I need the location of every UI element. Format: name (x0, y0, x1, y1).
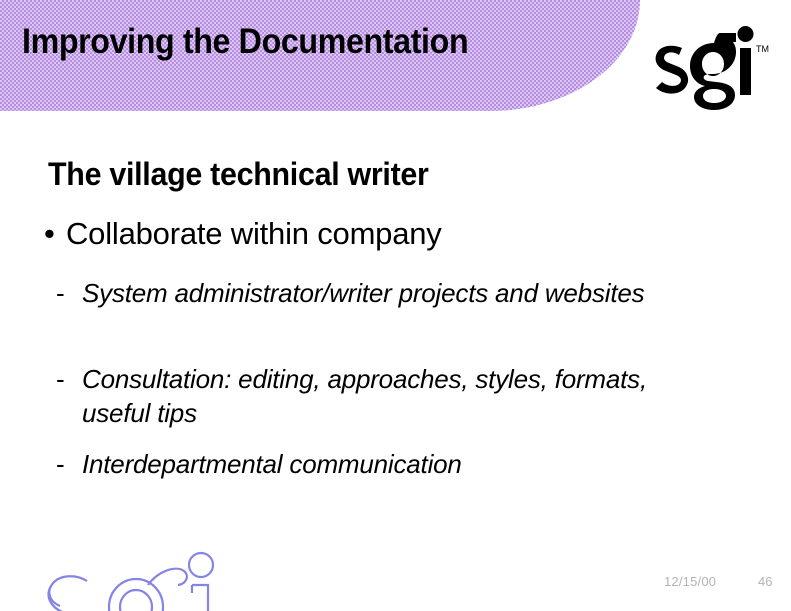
bullet-level1: •Collaborate within company (44, 216, 442, 252)
bullet-dot-icon: • (44, 216, 66, 252)
footer-date: 12/15/00 (664, 574, 716, 589)
dash-marker-icon: - (56, 276, 64, 310)
page-title: Improving the Documentation (22, 20, 574, 64)
sgi-watermark-logo (16, 545, 216, 611)
bullet-level2-label: System administrator/writer projects and… (56, 276, 696, 310)
dash-marker-icon: - (56, 447, 64, 481)
bullet-level1-label: Collaborate within company (66, 216, 442, 251)
bullet-level2: - System administrator/writer projects a… (56, 276, 696, 310)
bullet-level2-label: Consultation: editing, approaches, style… (56, 362, 696, 430)
slide-content: The village technical writer •Collaborat… (0, 111, 791, 551)
dash-marker-icon: - (56, 362, 64, 396)
footer-page-number: 46 (758, 574, 772, 589)
bullet-level2: - Interdepartmental communication (56, 447, 696, 481)
content-heading: The village technical writer (48, 156, 429, 193)
sgi-logo: TM (652, 22, 772, 110)
bullet-level2-label: Interdepartmental communication (56, 447, 696, 481)
presentation-slide: Improving the Documentation TM The villa… (0, 0, 791, 611)
trademark-label: TM (756, 44, 769, 54)
bullet-level2: - Consultation: editing, approaches, sty… (56, 362, 696, 430)
